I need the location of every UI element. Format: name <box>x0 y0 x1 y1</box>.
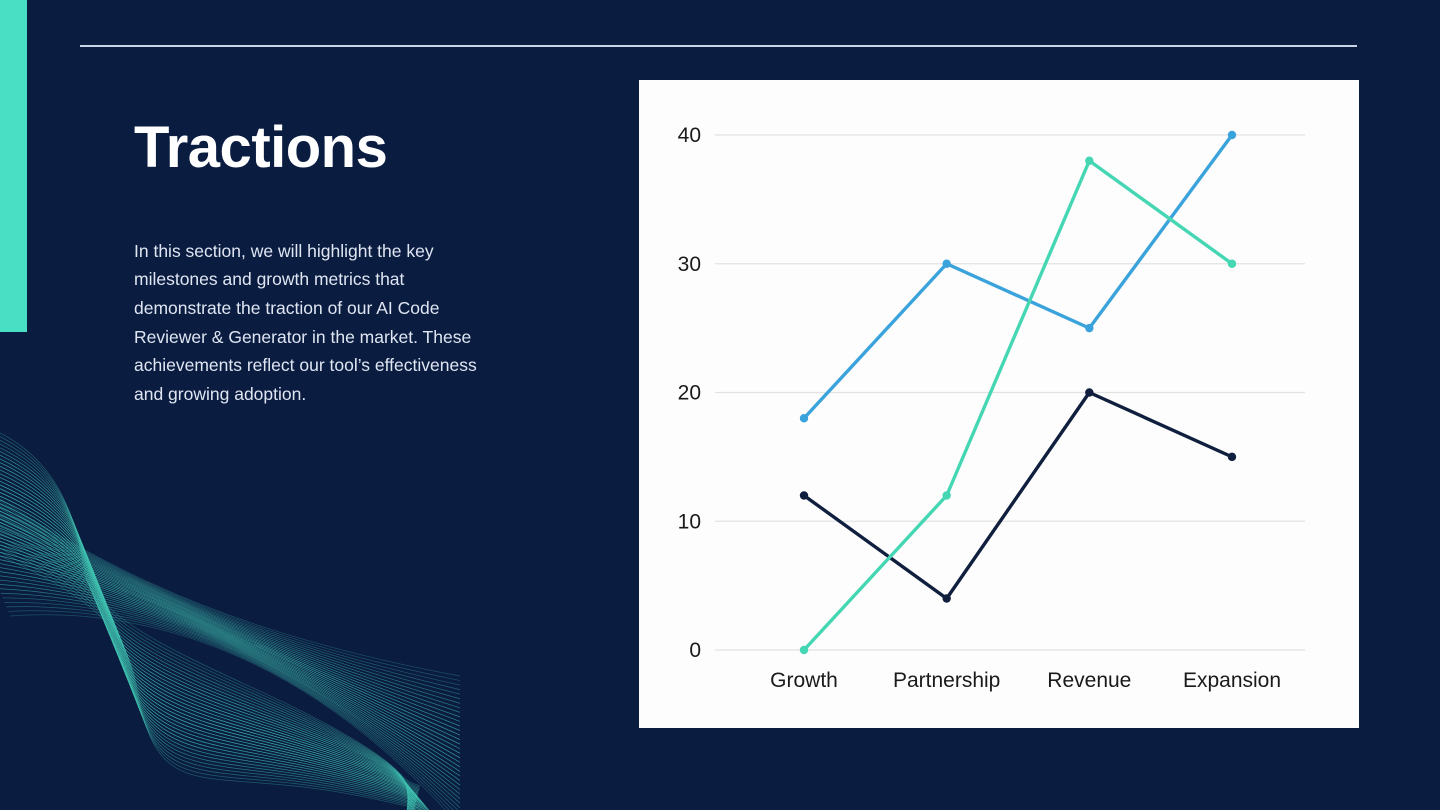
chart-series-line <box>804 135 1232 418</box>
chart-data-point <box>800 414 808 422</box>
wave-line <box>0 493 460 703</box>
chart-data-point <box>1228 131 1236 139</box>
chart-panel: 010203040 GrowthPartnershipRevenueExpans… <box>639 80 1359 728</box>
wave-line <box>0 489 460 699</box>
chart-data-point <box>1228 453 1236 461</box>
wave-line <box>0 575 460 785</box>
page-title: Tractions <box>134 118 544 179</box>
slide-root: Tractions In this section, we will highl… <box>0 0 1440 810</box>
wave-line <box>8 611 460 810</box>
wave-line <box>5 602 460 810</box>
wave-line <box>0 548 460 758</box>
wave-line <box>0 566 460 776</box>
wave-line <box>0 452 417 798</box>
wave-line <box>0 492 419 810</box>
chart-data-point <box>1085 324 1093 332</box>
wave-line <box>0 484 460 694</box>
wave-line <box>0 456 417 799</box>
chart-data-point <box>1228 260 1236 268</box>
wave-line <box>0 426 419 788</box>
wave-line <box>0 521 429 810</box>
x-axis-tick-label: Revenue <box>1047 669 1131 692</box>
wave-line <box>0 466 460 676</box>
chart-series-line <box>804 393 1232 599</box>
chart-x-axis-labels: GrowthPartnershipRevenueExpansion <box>770 669 1281 692</box>
line-chart: 010203040 GrowthPartnershipRevenueExpans… <box>639 80 1359 728</box>
wave-line <box>0 449 417 797</box>
wave-line <box>0 557 460 767</box>
x-axis-tick-label: Growth <box>770 669 838 692</box>
accent-bar-decoration <box>0 0 27 332</box>
wave-line <box>0 525 430 810</box>
wave-line <box>0 467 416 803</box>
wave-line <box>0 427 419 790</box>
wave-line <box>0 530 460 740</box>
wave-line <box>0 507 424 810</box>
wave-line <box>0 431 419 791</box>
y-axis-tick-label: 20 <box>678 382 701 405</box>
wave-line <box>0 584 460 794</box>
header-divider-rule <box>80 45 1357 47</box>
wave-line <box>0 481 415 807</box>
chart-series-line <box>804 161 1232 650</box>
wave-line <box>0 478 415 807</box>
y-axis-tick-label: 40 <box>678 124 701 147</box>
y-axis-tick-label: 0 <box>689 639 701 662</box>
y-axis-tick-label: 30 <box>678 253 701 276</box>
wave-line <box>10 615 460 810</box>
chart-data-point <box>800 646 808 654</box>
wave-line <box>0 474 415 805</box>
wave-line <box>0 441 418 794</box>
wave-line <box>0 518 427 810</box>
chart-data-point <box>800 491 808 499</box>
wave-line <box>0 480 460 690</box>
wave-line <box>0 496 420 810</box>
wave-line <box>0 502 460 712</box>
left-text-column: Tractions In this section, we will highl… <box>134 118 544 408</box>
wave-line <box>0 475 460 685</box>
wave-line <box>0 529 431 810</box>
wave-line <box>0 589 460 799</box>
wave-line <box>0 561 460 771</box>
x-axis-tick-label: Expansion <box>1183 669 1281 692</box>
wave-line <box>0 426 420 786</box>
wave-line <box>0 516 460 726</box>
chart-data-point <box>942 260 950 268</box>
wave-line <box>0 500 421 810</box>
chart-y-axis-labels: 010203040 <box>678 124 701 662</box>
wave-line <box>0 511 425 810</box>
wave-line <box>0 489 418 810</box>
wave-line <box>0 471 460 681</box>
wave-line <box>0 463 416 801</box>
wave-line <box>0 471 415 805</box>
wave-line <box>0 552 460 762</box>
wave-line <box>0 434 418 792</box>
chart-data-point <box>942 594 950 602</box>
wave-line <box>0 539 460 749</box>
wave-line <box>0 498 460 708</box>
chart-gridlines <box>715 135 1305 650</box>
wave-line <box>0 460 416 801</box>
y-axis-tick-label: 10 <box>678 510 701 533</box>
wave-line <box>0 543 460 753</box>
wave-line <box>0 426 420 787</box>
wave-line <box>0 571 460 781</box>
wave-line <box>0 514 426 810</box>
chart-data-point <box>1085 388 1093 396</box>
wave-line <box>0 511 460 721</box>
wave-line <box>0 536 434 810</box>
x-axis-tick-label: Partnership <box>893 669 1000 692</box>
page-description: In this section, we will highlight the k… <box>134 179 506 409</box>
wave-line <box>0 485 417 809</box>
wave-line <box>0 507 460 717</box>
chart-data-point <box>942 491 950 499</box>
wave-line <box>0 525 460 735</box>
wave-line <box>3 598 460 808</box>
wave-decoration <box>0 426 460 810</box>
wave-line <box>0 521 460 731</box>
wave-line <box>0 580 460 790</box>
wave-line <box>6 607 460 810</box>
wave-line <box>1 593 460 803</box>
wave-line <box>0 532 433 810</box>
wave-line <box>0 438 418 793</box>
wave-line <box>0 503 422 810</box>
chart-data-point <box>1085 157 1093 165</box>
wave-line <box>0 445 418 796</box>
wave-line <box>0 534 460 744</box>
